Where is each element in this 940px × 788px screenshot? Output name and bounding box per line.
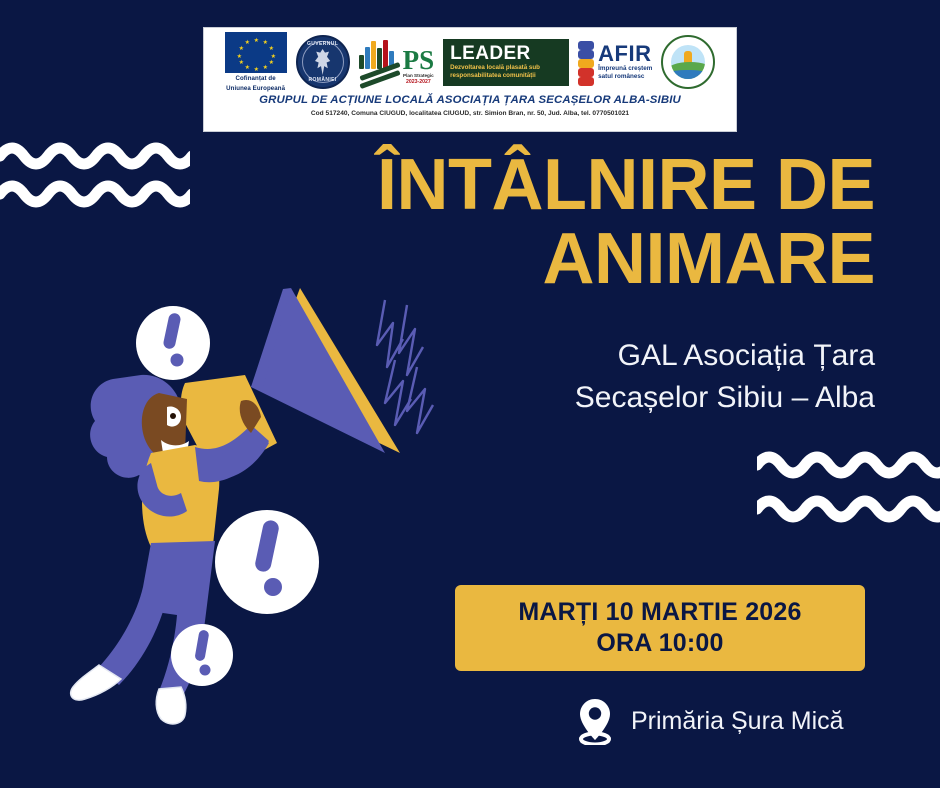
- person-with-megaphone-illustration: [55, 275, 475, 735]
- wave-decoration-right: [757, 447, 940, 527]
- gal-seal-inner: [671, 45, 705, 79]
- gal-organisation-title: GRUPUL DE ACȚIUNE LOCALĂ ASOCIAȚIA ȚARA …: [259, 94, 681, 107]
- event-datetime-box: MARȚI 10 MARTIE 2026 ORA 10:00: [455, 585, 865, 671]
- ps-sub-line2: 2023-2027: [406, 79, 431, 85]
- plan-strategic-logo: PS Plan Strategic 2023-2027: [359, 39, 435, 85]
- subtitle-line-2: Secașelor Sibiu – Alba: [470, 377, 875, 419]
- seal-text-top: GUVERNUL: [298, 41, 348, 47]
- poster-headline: ÎNTÂLNIRE DE ANIMARE: [300, 148, 875, 296]
- event-date: MARȚI 10 MARTIE 2026: [518, 597, 801, 628]
- guvernul-romaniei-seal: GUVERNUL ROMÂNIEI: [296, 35, 350, 89]
- afir-sub-line2: satul românesc: [598, 73, 652, 81]
- eu-caption-line2: Uniunea Europeană: [226, 85, 285, 92]
- exclamation-badge-medium: [215, 510, 319, 614]
- funding-logo-strip: ★ ★ ★ ★ ★ ★ ★ ★ ★ ★ ★ ★ Cofinanțat de Un…: [203, 27, 737, 132]
- poster-subtitle: GAL Asociația Țara Secașelor Sibiu – Alb…: [470, 335, 875, 419]
- event-location: Primăria Șura Mică: [575, 697, 844, 745]
- afir-logo: AFIR Împreună creștem satul românesc: [578, 39, 652, 85]
- ps-mark: PS: [403, 47, 435, 73]
- headline-line-1: ÎNTÂLNIRE DE: [300, 148, 875, 222]
- afir-text-block: AFIR Împreună creștem satul românesc: [598, 43, 652, 80]
- afir-name: AFIR: [598, 43, 652, 65]
- ps-mark-block: PS Plan Strategic 2023-2027: [403, 47, 435, 85]
- map-pin-icon: [575, 697, 615, 745]
- gal-circular-seal: [661, 35, 715, 89]
- wheat-icon: [578, 39, 594, 85]
- logo-row: ★ ★ ★ ★ ★ ★ ★ ★ ★ ★ ★ ★ Cofinanțat de Un…: [225, 31, 716, 93]
- leader-subtitle: Dezvoltarea locală plasată sub responsab…: [450, 64, 562, 80]
- sound-waves-illustration: [377, 300, 433, 433]
- gal-organisation-address: Cod 517240, Comuna CIUGUD, localitatea C…: [311, 109, 629, 118]
- exclamation-badge-large: [136, 306, 210, 380]
- event-time: ORA 10:00: [596, 628, 723, 659]
- afir-sub-line1: Împreună creștem: [598, 65, 652, 73]
- exclamation-badge-small: [171, 624, 233, 686]
- eu-caption-line1: Cofinanțat de: [235, 75, 275, 82]
- eu-flag-logo: ★ ★ ★ ★ ★ ★ ★ ★ ★ ★ ★ ★ Cofinanțat de Un…: [225, 32, 287, 92]
- eu-flag-icon: ★ ★ ★ ★ ★ ★ ★ ★ ★ ★ ★ ★: [225, 32, 287, 73]
- seal-text-bottom: ROMÂNIEI: [298, 77, 348, 83]
- poster-canvas: ★ ★ ★ ★ ★ ★ ★ ★ ★ ★ ★ ★ Cofinanțat de Un…: [0, 0, 940, 788]
- wave-decoration-left: [0, 138, 190, 210]
- location-label: Primăria Șura Mică: [631, 707, 844, 736]
- leader-logo: LEADER Dezvoltarea locală plasată sub re…: [443, 39, 569, 86]
- bars-icon: [359, 39, 399, 85]
- megaphone-illustration: [181, 288, 400, 470]
- river-shape: [671, 70, 705, 79]
- subtitle-line-1: GAL Asociația Țara: [470, 335, 875, 377]
- leader-name: LEADER: [450, 44, 531, 64]
